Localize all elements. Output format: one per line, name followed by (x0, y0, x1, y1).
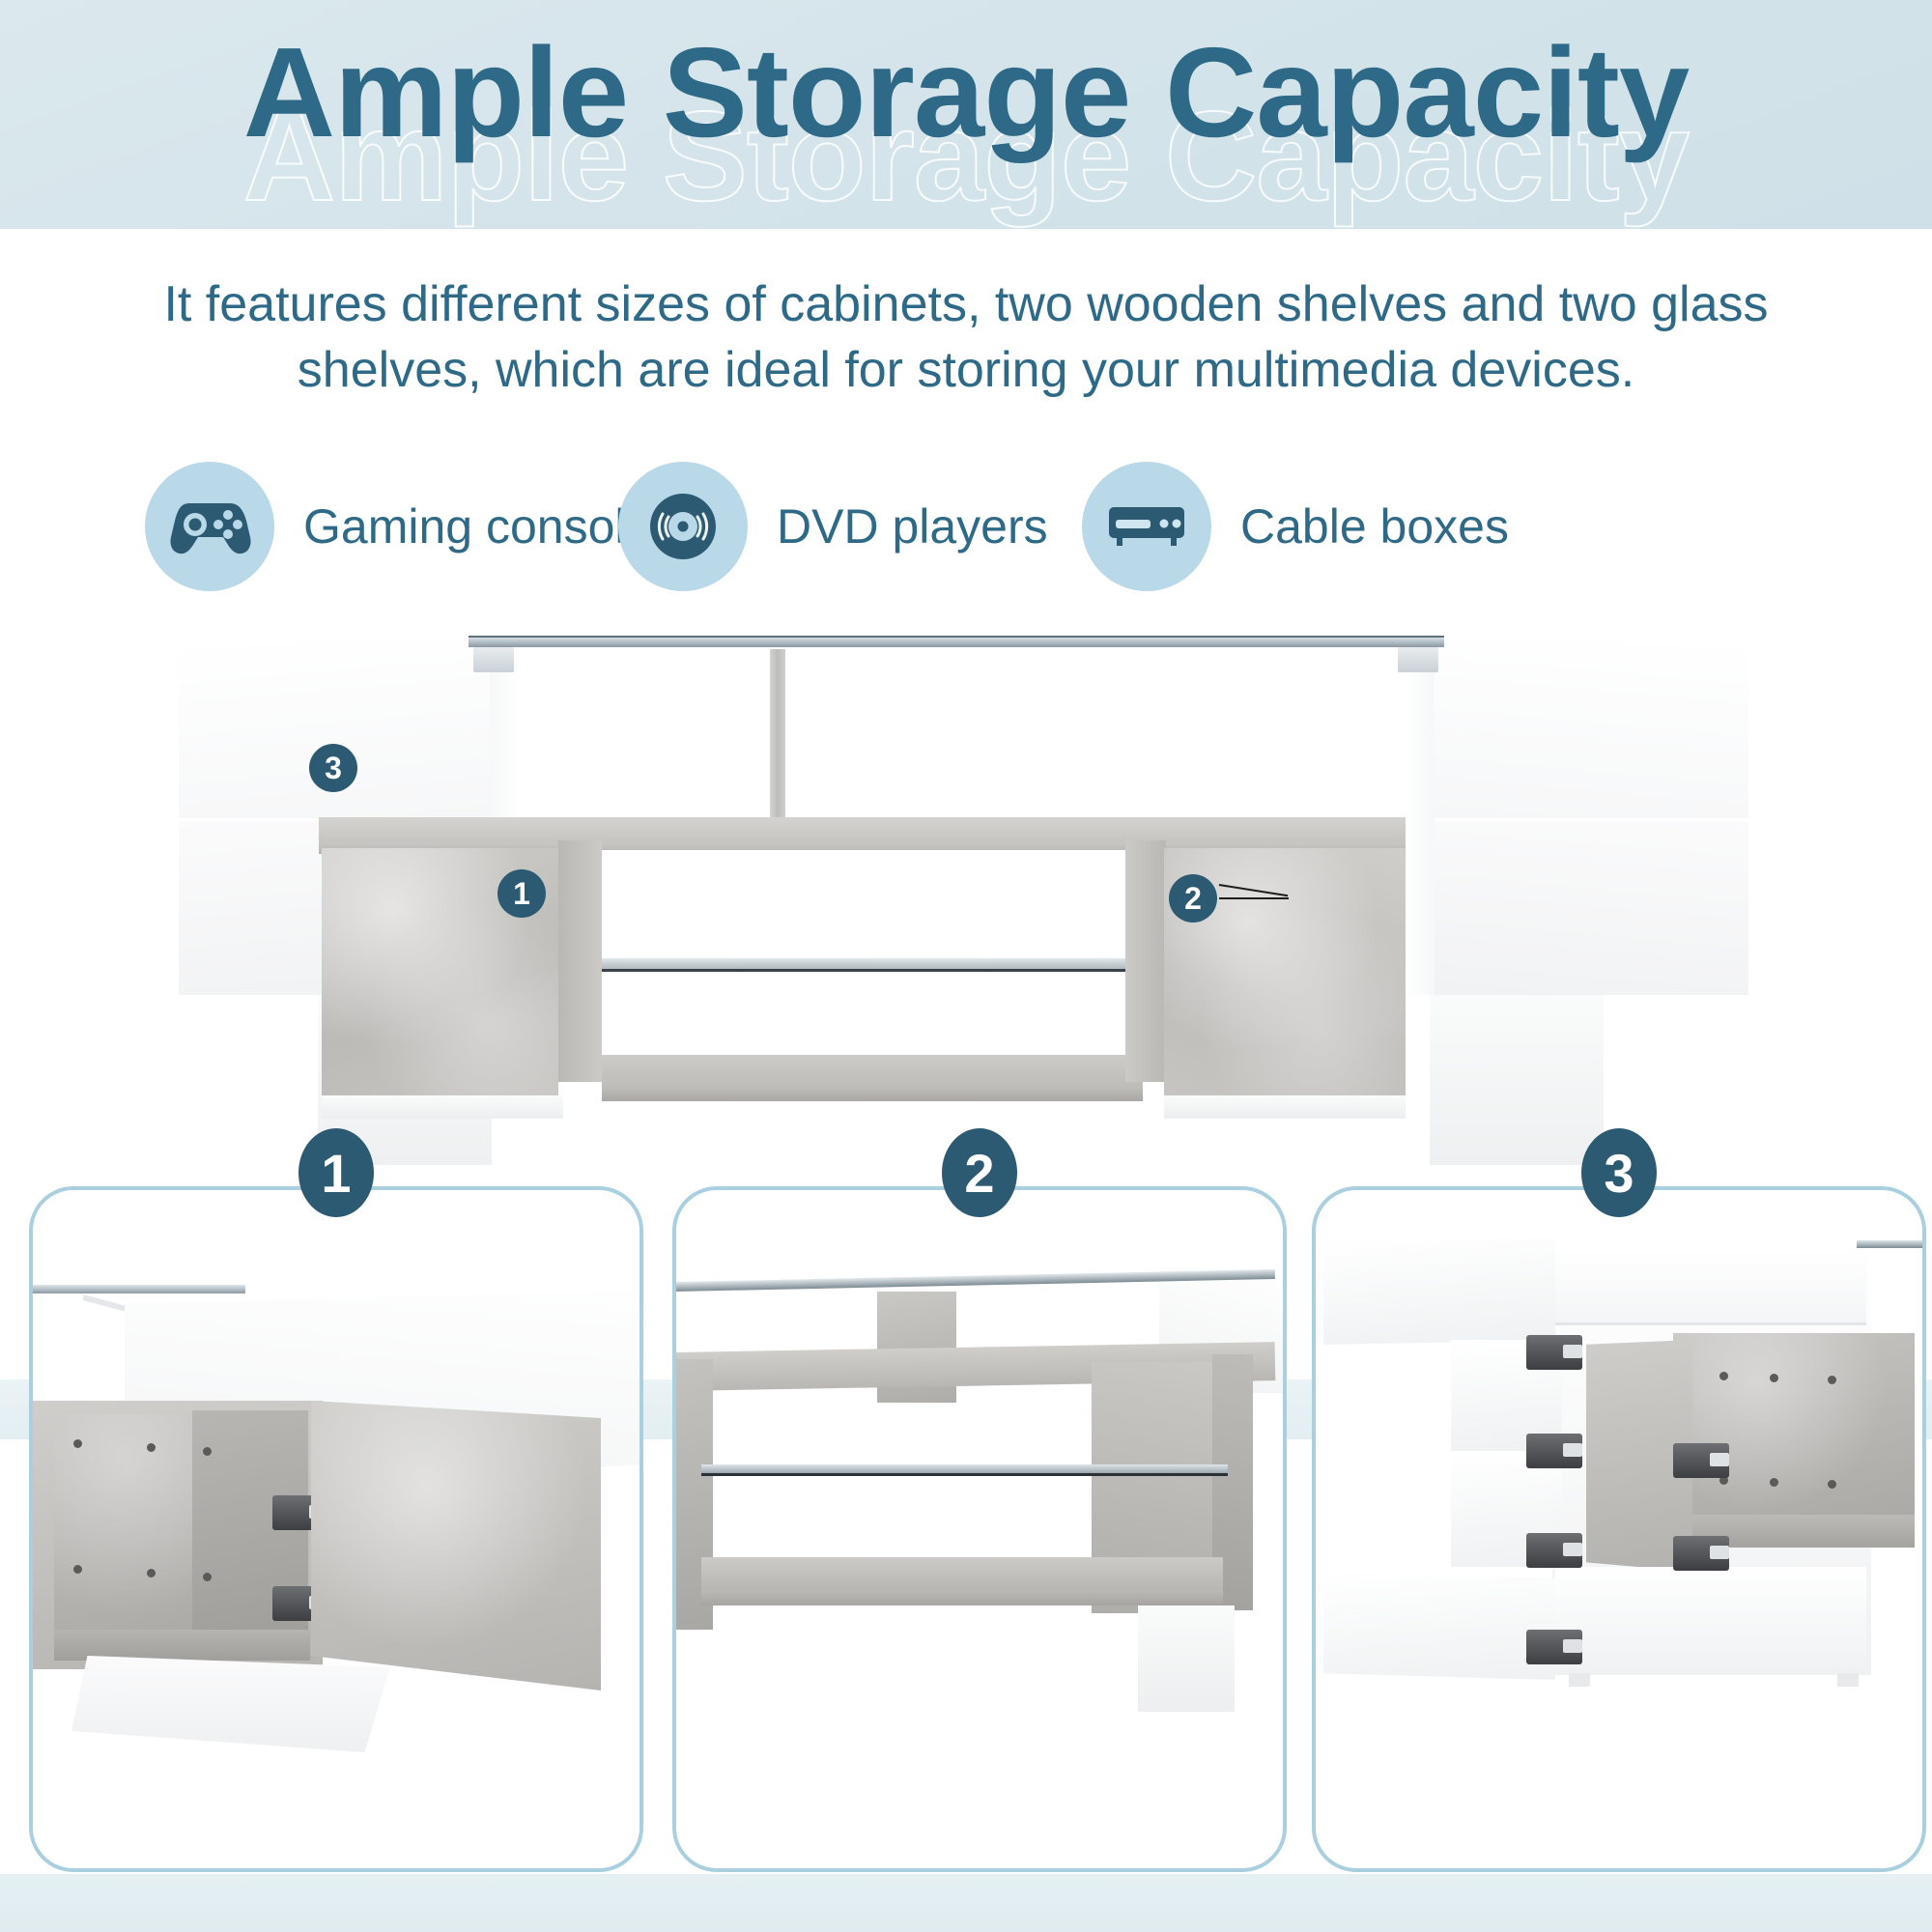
left-cabinet-side (558, 840, 602, 1082)
center-support-post (770, 649, 785, 821)
right-panel-edge (1406, 642, 1435, 995)
page-title: Ample Storage Capacity (0, 29, 1932, 156)
glass-bracket-right (1398, 647, 1438, 672)
card3-grey-interior (1673, 1333, 1915, 1531)
card3-hinge-2 (1526, 1434, 1582, 1468)
right-lower-white-panel (1430, 821, 1748, 995)
feature-item-dvd-players: DVD players (618, 462, 1072, 591)
card3-foot-right (1837, 1673, 1859, 1687)
feature-item-cable-boxes: Cable boxes (1082, 462, 1536, 591)
gamepad-icon (145, 462, 274, 591)
feature-list: Gaming consoles DVD players (145, 462, 1806, 607)
callout-2-leader-line (1219, 897, 1289, 899)
feature-item-gaming-consoles: Gaming consoles (145, 462, 599, 591)
card3-screw (1828, 1480, 1836, 1489)
detail-card-2[interactable] (672, 1186, 1287, 1872)
card2-shelf-floor-edge (701, 1590, 1223, 1605)
card1-screw (73, 1439, 82, 1448)
card3-screw (1770, 1478, 1778, 1487)
detail-card-badge-1[interactable]: 1 (298, 1128, 374, 1217)
set-top-box-icon (1082, 462, 1211, 591)
card3-white-door-4 (1323, 1572, 1555, 1680)
detail-card-list (0, 1186, 1932, 1874)
center-bay-floor-edge (602, 1088, 1143, 1101)
left-plinth (322, 1095, 563, 1119)
card3-bottom-compartment (1555, 1567, 1866, 1675)
feature-label: Cable boxes (1240, 498, 1509, 554)
top-glass-reflection (469, 647, 1444, 652)
card1-glass-shelf (33, 1285, 245, 1293)
card3-hinge-4 (1526, 1630, 1582, 1664)
card3-foot-left (1569, 1673, 1590, 1687)
detail-card-badge-2[interactable]: 2 (942, 1128, 1017, 1217)
card1-screw (203, 1447, 212, 1456)
bottom-accent-band (0, 1874, 1932, 1932)
detail-card-3[interactable] (1312, 1186, 1926, 1872)
hero-product-image (0, 618, 1932, 1159)
glass-bracket-left (473, 647, 514, 672)
card3-screw (1719, 1372, 1728, 1380)
feature-label: DVD players (777, 498, 1048, 554)
subtitle-line-1: It features different sizes of cabinets,… (116, 272, 1816, 338)
card3-hinge-5 (1673, 1443, 1729, 1478)
card1-screw (73, 1565, 82, 1574)
card3-top-shelf (1555, 1250, 1866, 1325)
card3-glass-edge (1857, 1240, 1926, 1248)
right-upper-white-panel (1430, 642, 1748, 818)
card3-screw (1770, 1374, 1778, 1382)
card1-open-grey-door (311, 1401, 601, 1690)
right-white-leg (1430, 995, 1604, 1165)
right-plinth (1164, 1095, 1406, 1119)
card1-cabinet-floor (54, 1630, 310, 1661)
card2-glass-shelf (701, 1464, 1228, 1476)
card-3-badge-holder: 3 (1312, 1186, 1926, 1187)
detail-card-badge-3[interactable]: 3 (1581, 1128, 1657, 1217)
card1-screw (203, 1573, 212, 1581)
card3-hinge-1 (1526, 1335, 1582, 1370)
header-band: Ample Storage Capacity Ample Storage Cap… (0, 0, 1932, 229)
disc-icon (618, 462, 748, 591)
card-2-badge-holder: 2 (672, 1186, 1287, 1187)
card1-screw (147, 1443, 156, 1452)
card-1-badge-holder: 1 (29, 1186, 643, 1187)
tv-stand-illustration (179, 618, 1748, 1159)
hero-callout-3[interactable]: 3 (309, 744, 357, 792)
title-wrap: Ample Storage Capacity Ample Storage Cap… (0, 0, 1932, 229)
center-glass-shelf (602, 958, 1152, 972)
subtitle-line-2: shelves, which are ideal for storing you… (116, 338, 1816, 404)
card1-white-plinth (71, 1656, 390, 1752)
card3-hinge-6 (1673, 1536, 1729, 1571)
top-glass-shelf (469, 636, 1444, 647)
card2-white-plinth (1138, 1605, 1235, 1712)
card3-screw (1828, 1376, 1836, 1384)
subtitle: It features different sizes of cabinets,… (116, 272, 1816, 403)
card3-white-door-1 (1323, 1238, 1555, 1345)
card1-screw (147, 1569, 156, 1577)
right-cabinet-side (1125, 840, 1166, 1082)
hero-callout-1[interactable]: 1 (497, 869, 546, 918)
card3-hinge-3 (1526, 1533, 1582, 1568)
hero-callout-2[interactable]: 2 (1169, 874, 1217, 923)
detail-card-1[interactable] (29, 1186, 643, 1872)
